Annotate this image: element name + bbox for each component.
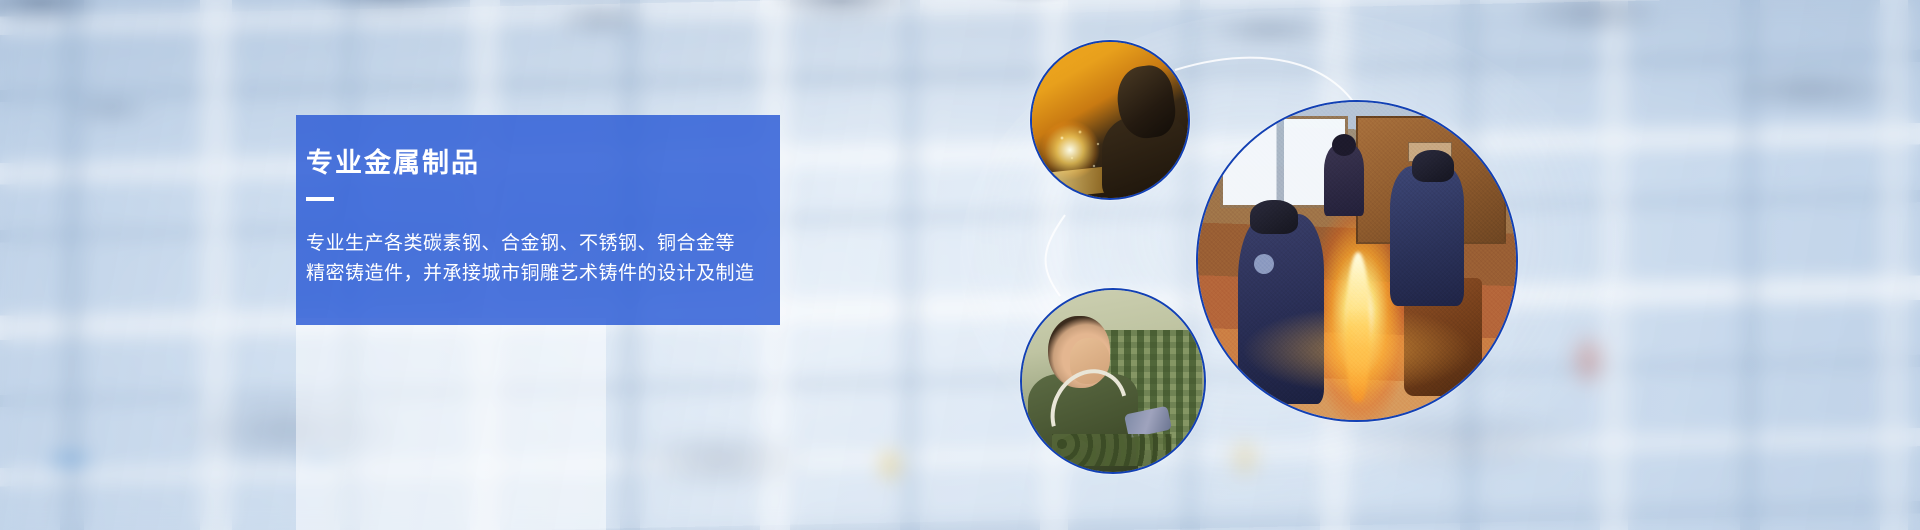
photo-grain xyxy=(1198,102,1516,420)
castings-pile xyxy=(1052,434,1172,466)
connector-lines xyxy=(0,0,1920,530)
foundry-pour-photo[interactable] xyxy=(1196,100,1518,422)
welding-sparks-photo[interactable] xyxy=(1030,40,1190,200)
worker-inspection-photo[interactable] xyxy=(1020,288,1206,474)
connector-line-bottom xyxy=(1046,215,1065,296)
photo-circle-cluster xyxy=(0,0,1920,530)
hero-banner: 专业金属制品 专业生产各类碳素钢、合金钢、不锈钢、铜合金等 精密铸造件，并承接城… xyxy=(0,0,1920,530)
